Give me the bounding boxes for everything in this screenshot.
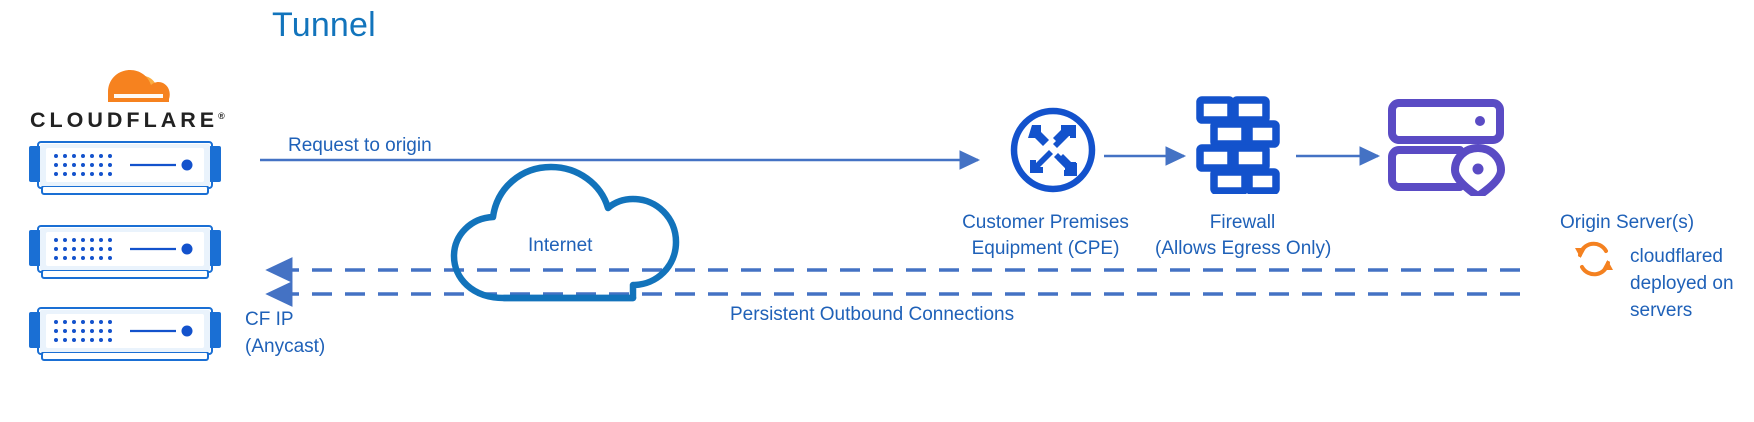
cloudflared-icon-wrap (1573, 238, 1615, 280)
tunnel-diagram-canvas: Tunnel CLOUDFLARE® (0, 0, 1754, 422)
cloudflare-server-unit-3 (24, 300, 226, 364)
origin-server-label: Origin Server(s) (1560, 210, 1750, 235)
cpe-label-line1: Customer Premises (928, 210, 1163, 236)
cloudflare-server-unit-1 (24, 134, 226, 198)
cf-ip-label-line2: (Anycast) (245, 333, 325, 360)
brick-wall-icon (1196, 96, 1280, 194)
page-title: Tunnel (272, 6, 376, 45)
cloudflare-logo: CLOUDFLARE® (30, 68, 230, 138)
cf-ip-label-line1: CF IP (245, 306, 325, 333)
cf-ip-label: CF IP (Anycast) (245, 306, 325, 360)
cpe-router-icon-wrap (1008, 105, 1098, 195)
request-arrow-label: Request to origin (288, 133, 432, 158)
persistent-outbound-label: Persistent Outbound Connections (730, 302, 1014, 327)
internet-label: Internet (528, 233, 592, 258)
firewall-icon-wrap (1196, 96, 1280, 194)
server-location-pin-icon (1388, 98, 1508, 196)
firewall-label: Firewall (Allows Egress Only) (1155, 210, 1330, 262)
cpe-label-line2: Equipment (CPE) (928, 236, 1163, 262)
cloudflare-server-unit-2 (24, 218, 226, 282)
sync-arrows-circle-icon (1573, 238, 1615, 280)
cloudflared-label-line3: servers (1630, 297, 1750, 324)
trademark-symbol: ® (218, 111, 225, 121)
cloud-outline-icon (442, 140, 722, 310)
firewall-label-line1: Firewall (1155, 210, 1330, 236)
cloudflare-wordmark: CLOUDFLARE® (30, 108, 225, 133)
server-rack-unit-icon (24, 134, 226, 202)
router-arrows-circle-icon (1008, 105, 1098, 195)
origin-server-icon-wrap (1388, 98, 1508, 196)
server-rack-unit-icon (24, 300, 226, 368)
cloudflared-label-line1: cloudflared (1630, 243, 1750, 270)
cloudflared-label: cloudflared deployed on servers (1630, 243, 1750, 324)
cpe-label: Customer Premises Equipment (CPE) (928, 210, 1163, 262)
firewall-label-line2: (Allows Egress Only) (1155, 236, 1330, 262)
server-rack-unit-icon (24, 218, 226, 286)
internet-cloud (442, 140, 722, 305)
wordmark-text: CLOUDFLARE (30, 108, 218, 132)
cloudflared-label-line2: deployed on (1630, 270, 1750, 297)
